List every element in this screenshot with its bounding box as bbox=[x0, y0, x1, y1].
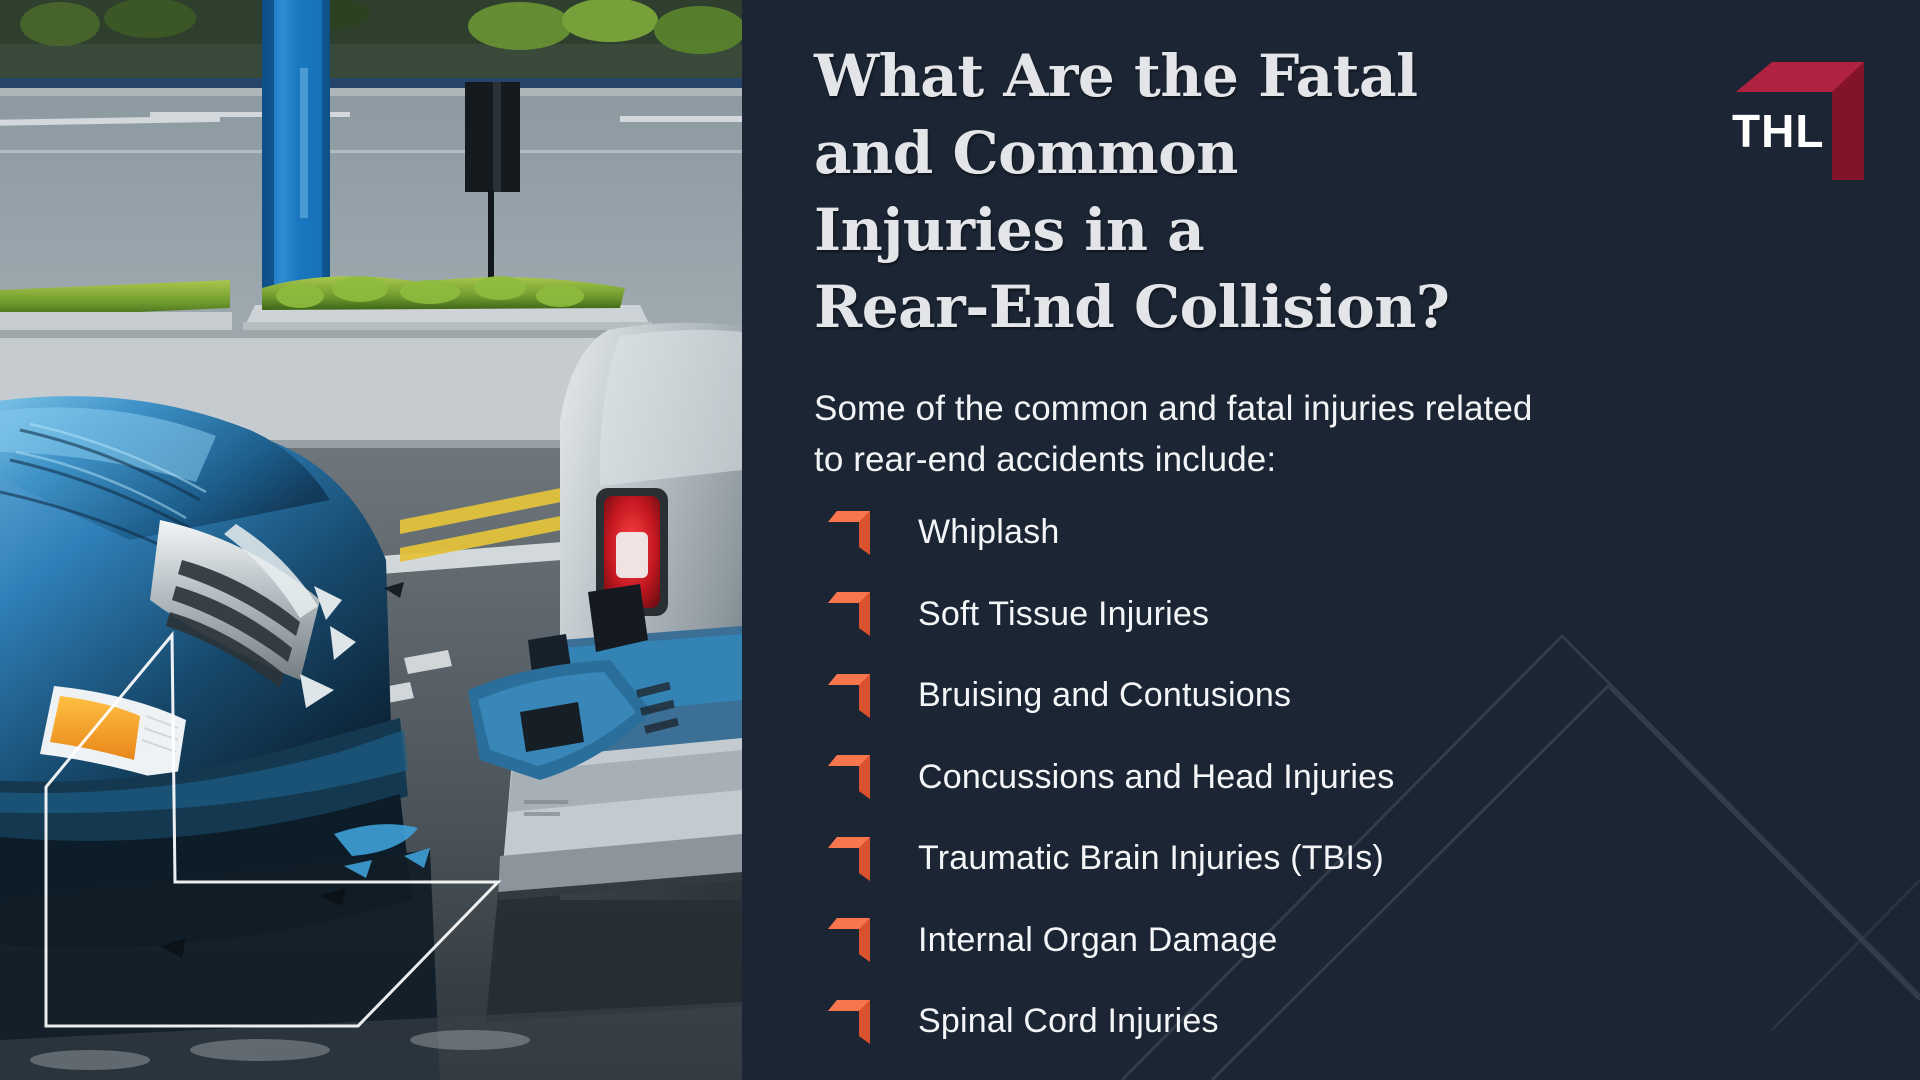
list-item[interactable]: Concussions and Head Injuries bbox=[814, 737, 1864, 819]
list-item[interactable]: Bruising and Contusions bbox=[814, 655, 1864, 737]
injury-list: Whiplash Soft Tissue Injuries bbox=[814, 492, 1864, 1063]
logo-wordmark: THL bbox=[1732, 108, 1824, 154]
chevron-arrow-bullet-icon bbox=[826, 509, 876, 557]
infographic-canvas: THL What Are the Fatal and Common Injuri… bbox=[0, 0, 1920, 1080]
rear-end-collision-photo bbox=[0, 0, 742, 1080]
intro-paragraph: Some of the common and fatal injuries re… bbox=[814, 383, 1734, 485]
chevron-arrow-bullet-icon bbox=[826, 672, 876, 720]
thl-logo[interactable]: THL bbox=[1714, 30, 1874, 190]
list-item[interactable]: Traumatic Brain Injuries (TBIs) bbox=[814, 818, 1864, 900]
content-panel: THL What Are the Fatal and Common Injuri… bbox=[742, 0, 1920, 1080]
chevron-arrow-bullet-icon bbox=[826, 916, 876, 964]
list-item-label: Whiplash bbox=[918, 513, 1059, 552]
chevron-arrow-bullet-icon bbox=[826, 590, 876, 638]
list-item-label: Concussions and Head Injuries bbox=[918, 758, 1394, 797]
title-line-3: Injuries in a bbox=[814, 196, 1204, 264]
chevron-arrow-bullet-icon bbox=[826, 998, 876, 1046]
list-item-label: Bruising and Contusions bbox=[918, 676, 1291, 715]
list-item[interactable]: Spinal Cord Injuries bbox=[814, 981, 1864, 1063]
page-title: What Are the Fatal and Common Injuries i… bbox=[814, 38, 1614, 346]
list-item-label: Spinal Cord Injuries bbox=[918, 1002, 1219, 1041]
list-item-label: Traumatic Brain Injuries (TBIs) bbox=[918, 839, 1384, 878]
chevron-arrow-bullet-icon bbox=[826, 835, 876, 883]
intro-line-2: to rear-end accidents include: bbox=[814, 440, 1276, 479]
list-item-label: Soft Tissue Injuries bbox=[918, 595, 1209, 634]
title-line-2: and Common bbox=[814, 119, 1238, 187]
title-line-4: Rear-End Collision? bbox=[814, 273, 1449, 341]
chevron-arrow-bullet-icon bbox=[826, 753, 876, 801]
list-item-label: Internal Organ Damage bbox=[918, 921, 1278, 960]
intro-line-1: Some of the common and fatal injuries re… bbox=[814, 389, 1533, 428]
list-item[interactable]: Internal Organ Damage bbox=[814, 900, 1864, 982]
list-item[interactable]: Whiplash bbox=[814, 492, 1864, 574]
title-line-1: What Are the Fatal bbox=[814, 42, 1418, 110]
list-item[interactable]: Soft Tissue Injuries bbox=[814, 574, 1864, 656]
